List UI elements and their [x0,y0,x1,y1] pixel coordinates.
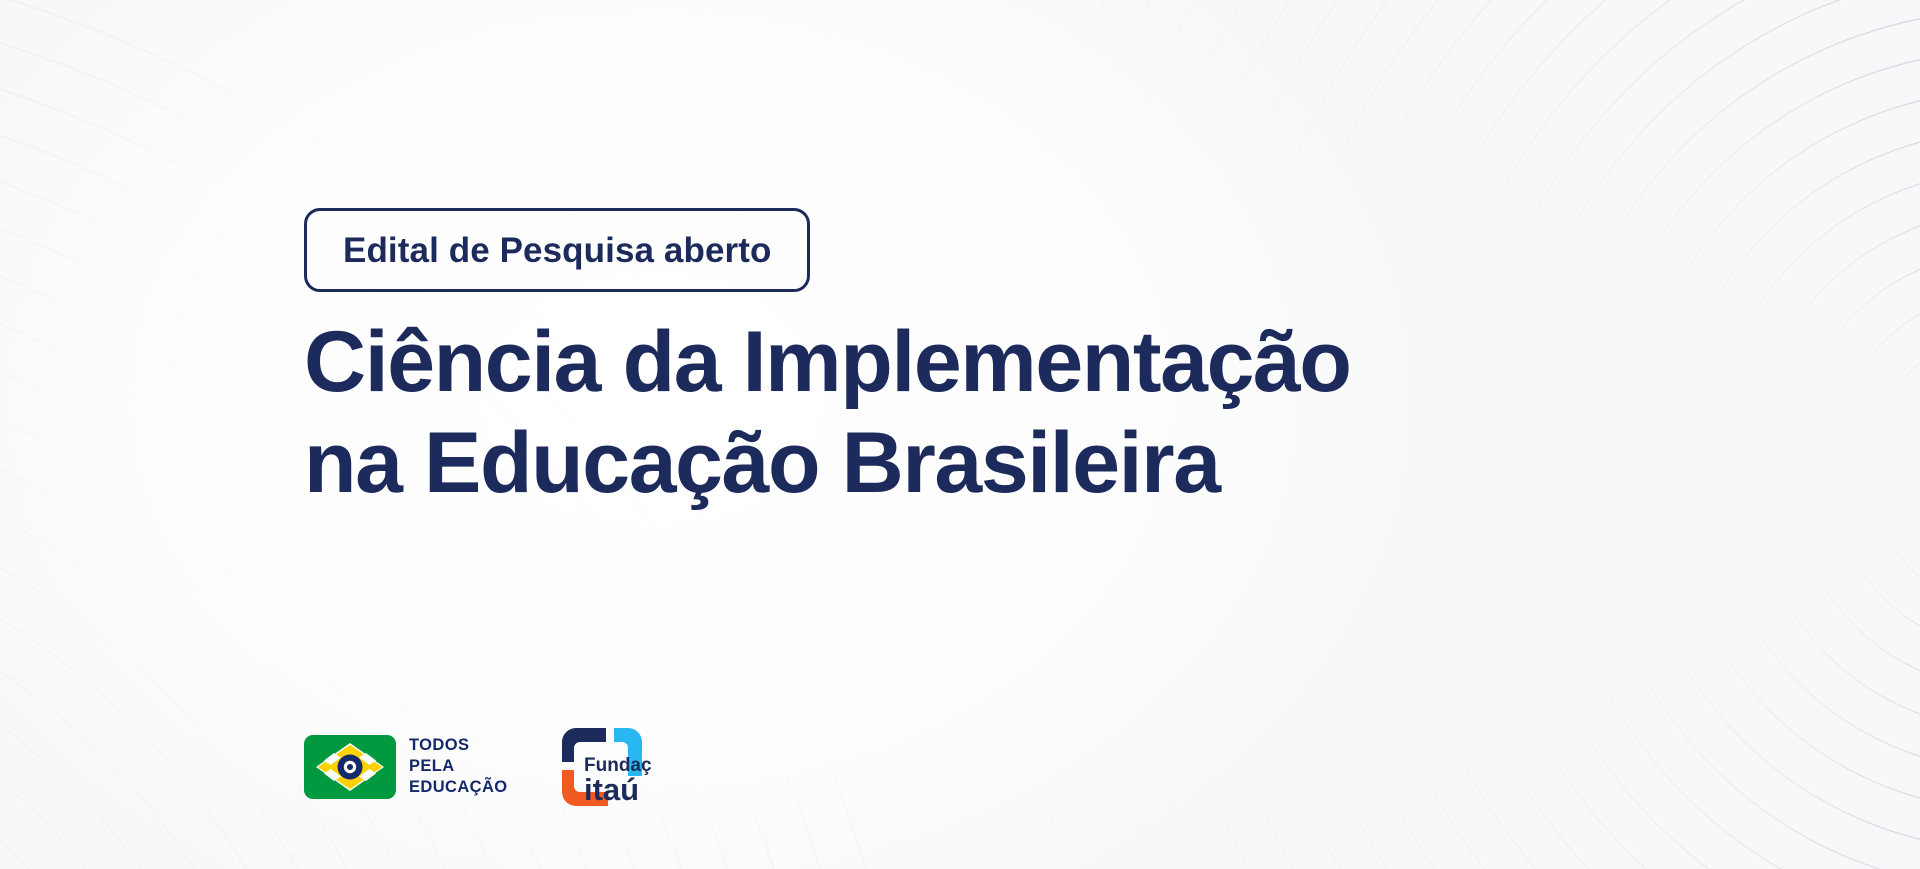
page-title-line-1: Ciência da Implementação [304,312,1724,413]
tpe-word-3: EDUCAÇÃO [409,777,508,798]
tpe-word-2: PELA [409,756,508,777]
logo-todos-pela-educacao[interactable]: TODOS PELA EDUCAÇÃO [304,735,508,799]
partner-logos: TODOS PELA EDUCAÇÃO Fundação itaú [304,716,652,817]
campaign-banner: Edital de Pesquisa aberto Ciência da Imp… [0,0,1920,869]
fundacao-itau-icon: Fundação itaú [548,716,652,812]
page-title-line-2: na Educação Brasileira [304,413,1724,514]
page-title: Ciência da Implementação na Educação Bra… [304,312,1724,515]
status-badge[interactable]: Edital de Pesquisa aberto [304,208,810,292]
todos-pela-educacao-wordmark: TODOS PELA EDUCAÇÃO [409,735,508,798]
status-badge-label: Edital de Pesquisa aberto [343,233,771,268]
tpe-word-1: TODOS [409,735,508,756]
banner-content: Edital de Pesquisa aberto Ciência da Imp… [304,0,1704,869]
todos-pela-educacao-icon [304,735,396,799]
svg-text:itaú: itaú [584,772,639,807]
logo-fundacao-itau[interactable]: Fundação itaú [548,716,652,817]
